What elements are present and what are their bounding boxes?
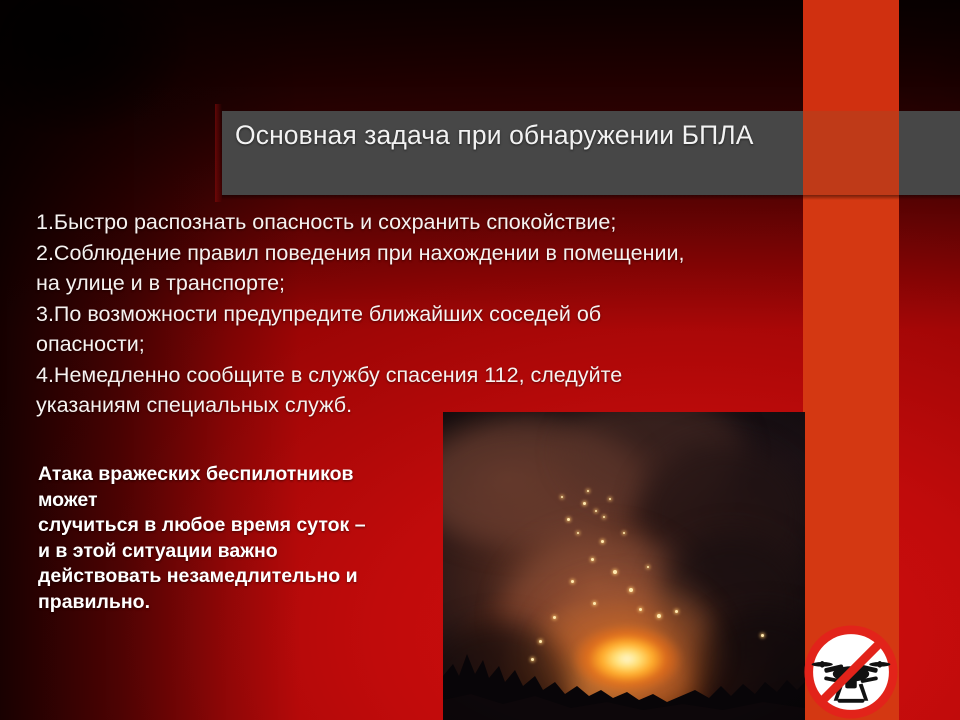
slide: Основная задача при обнаружении БПЛА 1.Б… xyxy=(0,0,960,720)
highlight-line: случиться в любое время суток – xyxy=(38,513,438,539)
list-item: 1.Быстро распознать опасность и сохранит… xyxy=(36,207,806,238)
list-item: 3.По возможности предупредите ближайших … xyxy=(36,299,806,330)
explosion-photo xyxy=(443,412,805,720)
photo-vignette xyxy=(443,412,805,720)
list-item: 4.Немедленно сообщите в службу спасения … xyxy=(36,360,806,391)
highlight-line: действовать незамедлительно и xyxy=(38,564,438,590)
page-title: Основная задача при обнаружении БПЛА xyxy=(222,111,960,195)
page-title-text: Основная задача при обнаружении БПЛА xyxy=(235,120,754,152)
highlight-paragraph: Атака вражеских беспилотников может случ… xyxy=(38,462,438,615)
highlight-line: Атака вражеских беспилотников xyxy=(38,462,438,488)
highlight-line: правильно. xyxy=(38,590,438,616)
list-item: опасности; xyxy=(36,329,806,360)
highlight-line: может xyxy=(38,488,438,514)
list-item: на улице и в транспорте; xyxy=(36,268,806,299)
instructions-list: 1.Быстро распознать опасность и сохранит… xyxy=(36,207,806,421)
no-drone-icon xyxy=(803,624,899,720)
title-band-shadow xyxy=(222,195,960,200)
highlight-line: и в этой ситуации важно xyxy=(38,539,438,565)
title-band-left-edge xyxy=(215,104,222,202)
list-item: 2.Соблюдение правил поведения при нахожд… xyxy=(36,238,806,269)
